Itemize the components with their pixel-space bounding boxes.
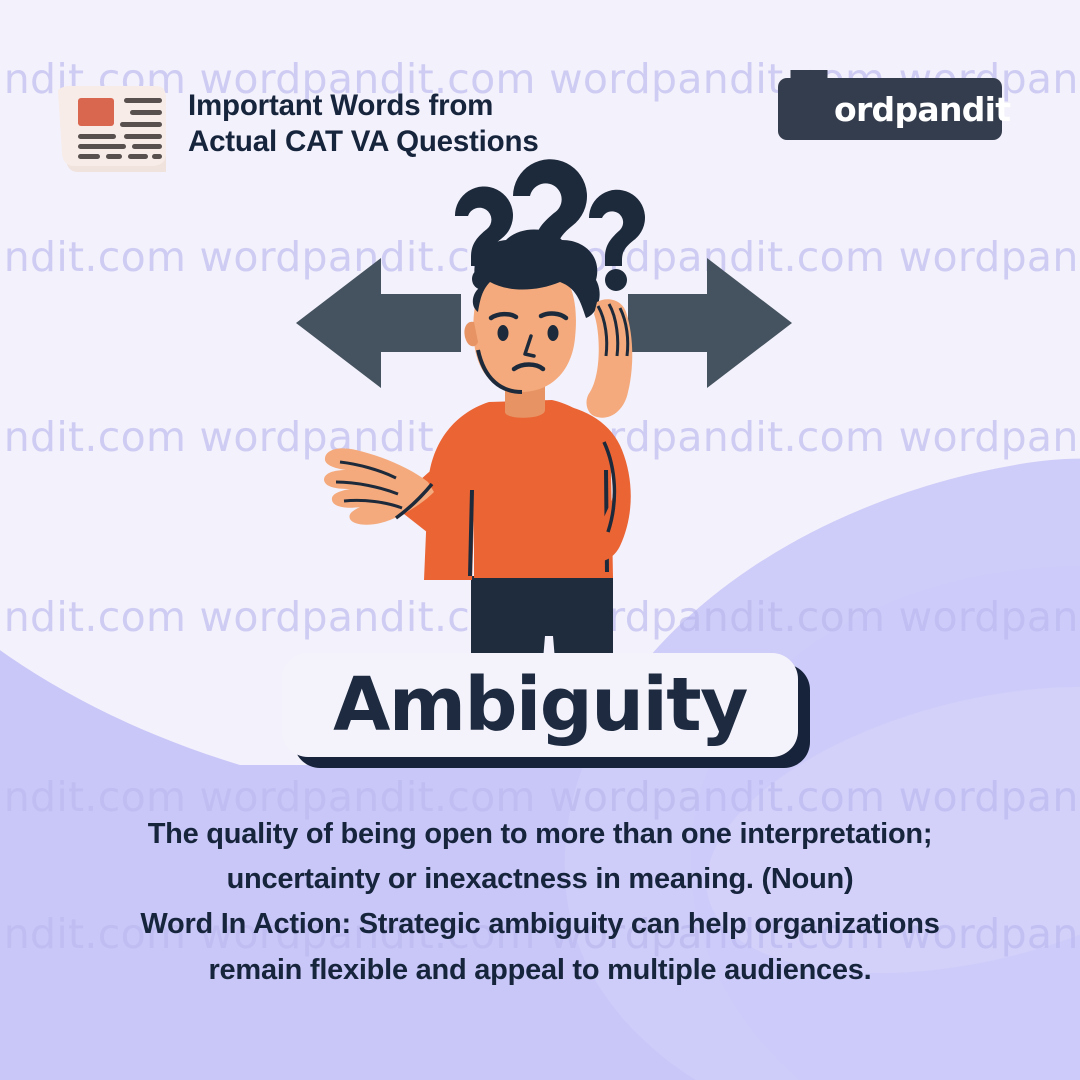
definition-line-1: The quality of being open to more than o…: [0, 812, 1080, 857]
word-term: Ambiguity: [333, 668, 747, 742]
word-badge: Ambiguity: [282, 653, 798, 757]
definition-block: The quality of being open to more than o…: [0, 812, 1080, 993]
word-in-action-line-1: Word In Action: Strategic ambiguity can …: [0, 902, 1080, 947]
poster-canvas: wordpandit.com wordpandit.com wordpandit…: [0, 0, 1080, 1080]
arrow-right-icon: [628, 258, 792, 388]
question-mark-right: [589, 190, 645, 291]
page-title-line-1: Important Words from: [188, 88, 608, 124]
page-title: Important Words from Actual CAT VA Quest…: [188, 88, 608, 160]
page-title-line-2: Actual CAT VA Questions: [188, 124, 608, 160]
newspaper-icon: [48, 76, 180, 176]
word-badge-plate: Ambiguity: [282, 653, 798, 757]
eye-left: [498, 325, 509, 341]
logo-text: ordpandit: [834, 78, 1010, 140]
definition-line-2: uncertainty or inexactness in meaning. (…: [0, 857, 1080, 902]
bookmark-icon: [790, 70, 828, 132]
wordpandit-logo[interactable]: ordpandit: [778, 78, 1002, 140]
word-in-action-line-2: remain flexible and appeal to multiple a…: [0, 948, 1080, 993]
character-hand-on-head: [587, 299, 633, 417]
arrow-left-icon: [296, 258, 461, 388]
eye-right: [548, 325, 559, 341]
shirt-crease-left: [470, 490, 472, 576]
